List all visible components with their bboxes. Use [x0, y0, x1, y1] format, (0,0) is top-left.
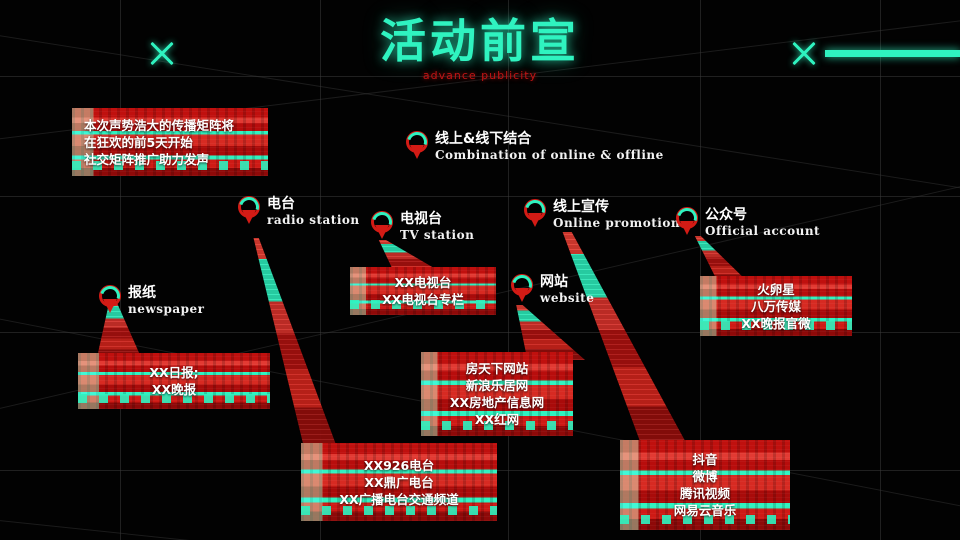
node-tv-station[interactable]: 电视台 TV station [371, 211, 474, 243]
node-label-en: radio station [267, 213, 360, 228]
map-pin-icon [99, 285, 121, 315]
website-card-text: 房天下网站 新浪乐居网 XX房地产信息网 XX红网 [421, 352, 573, 436]
card-line: XX鼎广电台 [364, 474, 433, 491]
node-online-promotion[interactable]: 线上宣传 Online promotion [524, 199, 680, 231]
node-label: 电台 radio station [267, 196, 360, 228]
node-label: 线上宣传 Online promotion [553, 199, 680, 231]
node-label-en: Official account [705, 224, 820, 239]
card-line: XX日报; [149, 364, 198, 381]
grid-line-h [0, 196, 960, 197]
node-label-en: TV station [400, 228, 474, 243]
card-line: XX电视台 [395, 274, 452, 291]
card-line: 房天下网站 [466, 360, 529, 377]
card-line: 抖音 [692, 451, 717, 468]
map-pin-icon [676, 207, 698, 237]
newspaper-card: XX日报; XX晚报 [78, 353, 270, 409]
tv-card-text: XX电视台 XX电视台专栏 [350, 267, 496, 315]
node-label-en: Combination of online & offline [435, 148, 664, 163]
map-pin-icon [511, 274, 533, 304]
node-label-cn: 电台 [267, 196, 360, 212]
node-label-cn: 线上&线下结合 [435, 131, 664, 147]
node-label-cn: 公众号 [705, 207, 820, 223]
card-line: 新浪乐居网 [466, 377, 529, 394]
node-label: 公众号 Official account [705, 207, 820, 239]
intro-card-text: 本次声势浩大的传播矩阵将 在狂欢的前5天开始 社交矩阵推广助力发声 [72, 108, 268, 176]
card-line: XX房地产信息网 [450, 394, 544, 411]
card-line: 微博 [692, 468, 717, 485]
card-line: 网易云音乐 [674, 502, 737, 519]
node-label: 电视台 TV station [400, 211, 474, 243]
card-line: XX926电台 [364, 457, 434, 474]
social-card: 抖音 微博 腾讯视频 网易云音乐 [620, 440, 790, 530]
tv-card: XX电视台 XX电视台专栏 [350, 267, 496, 315]
card-line: 火卵星 [757, 281, 795, 298]
node-newspaper[interactable]: 报纸 newspaper [99, 285, 204, 317]
intro-line: 在狂欢的前5天开始 [84, 134, 193, 151]
card-line: XX广播电台交通频道 [339, 491, 458, 508]
page-title: 活动前宣 [0, 16, 960, 66]
header: 活动前宣 advance publicity [0, 16, 960, 82]
node-official-account[interactable]: 公众号 Official account [676, 207, 820, 239]
website-card: 房天下网站 新浪乐居网 XX房地产信息网 XX红网 [421, 352, 573, 436]
card-line: XX晚报官微 [741, 315, 810, 332]
page-subtitle: advance publicity [0, 69, 960, 82]
node-label: 线上&线下结合 Combination of online & offline [435, 131, 664, 163]
intro-line: 社交矩阵推广助力发声 [84, 151, 209, 168]
node-website[interactable]: 网站 website [511, 274, 594, 306]
map-pin-icon [524, 199, 546, 229]
radio-card: XX926电台 XX鼎广电台 XX广播电台交通频道 [301, 443, 497, 521]
node-label-cn: 线上宣传 [553, 199, 680, 215]
node-radio-station[interactable]: 电台 radio station [238, 196, 360, 228]
radio-card-text: XX926电台 XX鼎广电台 XX广播电台交通频道 [301, 443, 497, 521]
social-card-text: 抖音 微博 腾讯视频 网易云音乐 [620, 440, 790, 530]
card-line: XX电视台专栏 [382, 291, 464, 308]
newspaper-card-text: XX日报; XX晚报 [78, 353, 270, 409]
node-label-cn: 电视台 [400, 211, 474, 227]
node-label-cn: 网站 [540, 274, 594, 290]
node-label: 网站 website [540, 274, 594, 306]
intro-line: 本次声势浩大的传播矩阵将 [84, 117, 234, 134]
intro-card: 本次声势浩大的传播矩阵将 在狂欢的前5天开始 社交矩阵推广助力发声 [72, 108, 268, 176]
node-online-offline[interactable]: 线上&线下结合 Combination of online & offline [406, 131, 664, 163]
map-pin-icon [406, 131, 428, 161]
card-line: 腾讯视频 [680, 485, 730, 502]
node-label-en: Online promotion [553, 216, 680, 231]
node-label: 报纸 newspaper [128, 285, 204, 317]
card-line: XX红网 [475, 411, 519, 428]
node-label-en: newspaper [128, 302, 204, 317]
node-label-en: website [540, 291, 594, 306]
map-pin-icon [371, 211, 393, 241]
node-label-cn: 报纸 [128, 285, 204, 301]
map-pin-icon [238, 196, 260, 226]
card-line: 八万传媒 [751, 298, 801, 315]
official-account-card-text: 火卵星 八万传媒 XX晚报官微 [700, 276, 852, 336]
card-line: XX晚报 [152, 381, 196, 398]
official-account-card: 火卵星 八万传媒 XX晚报官微 [700, 276, 852, 336]
slide-canvas: 活动前宣 advance publicity 本次声势浩大的传播矩阵将 在狂欢的… [0, 0, 960, 540]
